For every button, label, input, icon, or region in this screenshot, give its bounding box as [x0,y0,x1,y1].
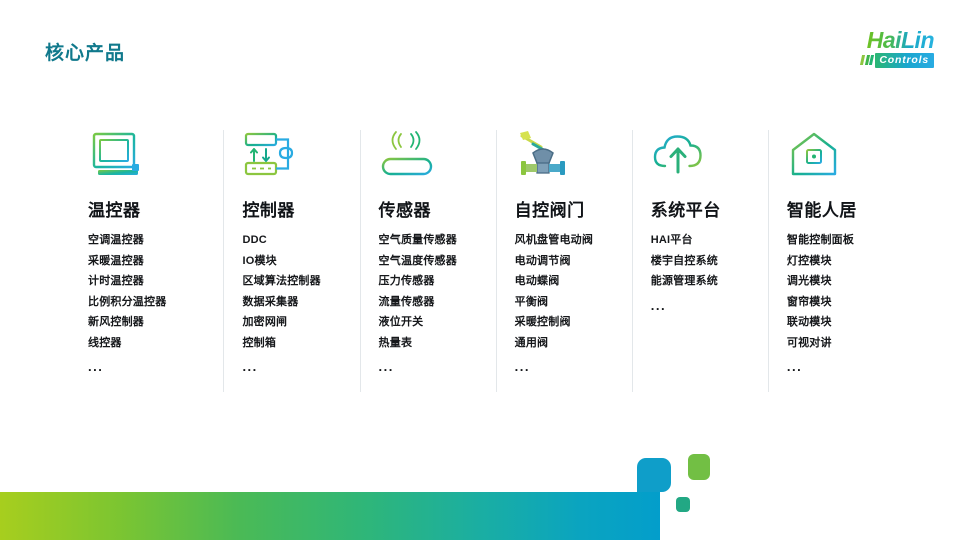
sensor-signal-icon [379,130,435,180]
brand-logo: HaiLin Controls [822,28,934,68]
list-item[interactable]: 新风控制器 [88,312,211,333]
product-column-platform[interactable]: 系统平台 HAI平台 楼宇自控系统 能源管理系统 ... [632,130,768,392]
control-valve-icon [515,130,571,180]
product-column-controller[interactable]: 控制器 DDC IO模块 区域算法控制器 数据采集器 加密网闸 控制箱 ... [223,130,359,392]
product-column-smarthome[interactable]: 智能人居 智能控制面板 灯控模块 调光模块 窗帘模块 联动模块 可视对讲 ... [768,130,904,392]
controller-module-icon [242,130,298,180]
product-columns: 温控器 空调温控器 采暖温控器 计时温控器 比例积分温控器 新风控制器 线控器 … [88,130,904,392]
list-item[interactable]: 数据采集器 [242,292,347,313]
list-item[interactable]: 加密网闸 [242,312,347,333]
column-item-list: HAI平台 楼宇自控系统 能源管理系统 ... [651,230,756,316]
list-item[interactable]: 调光模块 [787,271,892,292]
list-more-ellipsis: ... [379,353,484,378]
list-more-ellipsis: ... [651,292,756,317]
footer-square-teal [676,497,690,512]
logo-bars-icon [861,55,873,65]
column-item-list: DDC IO模块 区域算法控制器 数据采集器 加密网闸 控制箱 ... [242,230,347,378]
logo-subrow: Controls [861,53,934,68]
column-title: 温控器 [88,196,211,221]
column-title: 智能人居 [787,196,892,221]
page-title: 核心产品 [45,38,125,65]
list-item[interactable]: DDC [242,230,347,251]
list-more-ellipsis: ... [787,353,892,378]
list-item[interactable]: 热量表 [379,333,484,354]
logo-subtitle: Controls [875,53,934,68]
list-item[interactable]: 压力传感器 [379,271,484,292]
list-item[interactable]: 计时温控器 [88,271,211,292]
list-item[interactable]: 采暖控制阀 [515,312,620,333]
footer-square-green [688,454,710,480]
column-item-list: 空调温控器 采暖温控器 计时温控器 比例积分温控器 新风控制器 线控器 ... [88,230,211,378]
footer-square-blue [637,458,671,492]
list-item[interactable]: 流量传感器 [379,292,484,313]
product-column-thermostat[interactable]: 温控器 空调温控器 采暖温控器 计时温控器 比例积分温控器 新风控制器 线控器 … [88,130,223,392]
list-item[interactable]: 智能控制面板 [787,230,892,251]
list-item[interactable]: 比例积分温控器 [88,292,211,313]
list-item[interactable]: HAI平台 [651,230,756,251]
list-item[interactable]: 窗帘模块 [787,292,892,313]
list-item[interactable]: 楼宇自控系统 [651,251,756,272]
column-title: 控制器 [242,196,347,221]
product-column-sensor[interactable]: 传感器 空气质量传感器 空气温度传感器 压力传感器 流量传感器 液位开关 热量表… [360,130,496,392]
list-more-ellipsis: ... [242,353,347,378]
list-item[interactable]: 空调温控器 [88,230,211,251]
list-item[interactable]: 空气温度传感器 [379,251,484,272]
slide-root: 核心产品 HaiLin Controls 温控器 空调温控器 采暖温控器 [0,0,960,540]
smart-home-chip-icon [787,130,843,180]
list-item[interactable]: 风机盘管电动阀 [515,230,620,251]
list-more-ellipsis: ... [88,353,211,378]
cloud-upload-icon [651,130,707,180]
list-item[interactable]: 电动调节阀 [515,251,620,272]
logo-wordmark: HaiLin [867,28,934,52]
column-title: 自控阀门 [515,196,620,221]
thermostat-monitor-icon [88,130,144,180]
list-item[interactable]: 空气质量传感器 [379,230,484,251]
list-item[interactable]: 区域算法控制器 [242,271,347,292]
product-column-valve[interactable]: 自控阀门 风机盘管电动阀 电动调节阀 电动蝶阀 平衡阀 采暖控制阀 通用阀 ..… [496,130,632,392]
list-item[interactable]: 可视对讲 [787,333,892,354]
column-title: 系统平台 [651,196,756,221]
list-item[interactable]: 控制箱 [242,333,347,354]
list-item[interactable]: 采暖温控器 [88,251,211,272]
footer-gradient-bar [0,492,660,540]
list-item[interactable]: 电动蝶阀 [515,271,620,292]
list-more-ellipsis: ... [515,353,620,378]
column-item-list: 智能控制面板 灯控模块 调光模块 窗帘模块 联动模块 可视对讲 ... [787,230,892,378]
list-item[interactable]: 能源管理系统 [651,271,756,292]
list-item[interactable]: 线控器 [88,333,211,354]
list-item[interactable]: 平衡阀 [515,292,620,313]
list-item[interactable]: 通用阀 [515,333,620,354]
column-title: 传感器 [379,196,484,221]
list-item[interactable]: 灯控模块 [787,251,892,272]
list-item[interactable]: IO模块 [242,251,347,272]
list-item[interactable]: 液位开关 [379,312,484,333]
column-item-list: 空气质量传感器 空气温度传感器 压力传感器 流量传感器 液位开关 热量表 ... [379,230,484,378]
list-item[interactable]: 联动模块 [787,312,892,333]
column-item-list: 风机盘管电动阀 电动调节阀 电动蝶阀 平衡阀 采暖控制阀 通用阀 ... [515,230,620,378]
